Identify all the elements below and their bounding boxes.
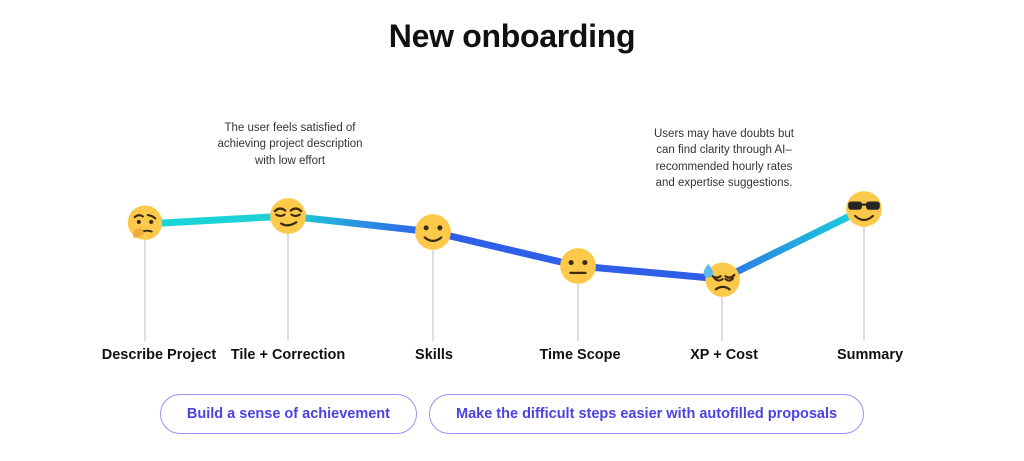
slightly-smiling-face-icon[interactable] bbox=[411, 210, 455, 254]
stage-label-summary: Summary bbox=[837, 347, 903, 363]
stage-label-skills: Skills bbox=[415, 347, 453, 363]
thinking-face-icon[interactable] bbox=[123, 202, 167, 246]
stage-label-tile-correction: Tile + Correction bbox=[231, 347, 346, 363]
smirking-face-icon[interactable] bbox=[266, 194, 310, 238]
insight-pill-achievement[interactable]: Build a sense of achievement bbox=[160, 394, 417, 434]
insight-pill-autofilled-proposals[interactable]: Make the difficult steps easier with aut… bbox=[429, 394, 864, 434]
journey-map-canvas: New onboarding bbox=[0, 0, 1024, 461]
downcast-face-with-sweat-icon[interactable] bbox=[700, 257, 744, 301]
annotation-xp-cost: Users may have doubts but can find clari… bbox=[648, 126, 800, 191]
stage-label-describe-project: Describe Project bbox=[102, 347, 216, 363]
insight-pill-row: Build a sense of achievement Make the di… bbox=[0, 394, 1024, 434]
stem-lines bbox=[145, 227, 864, 341]
stage-label-xp-cost: XP + Cost bbox=[690, 347, 758, 363]
stage-label-time-scope: Time Scope bbox=[539, 347, 620, 363]
smiling-face-with-sunglasses-icon[interactable] bbox=[842, 187, 886, 231]
neutral-face-icon[interactable] bbox=[556, 244, 600, 288]
sentiment-line bbox=[145, 209, 864, 279]
annotation-tile-correction: The user feels satisfied of achieving pr… bbox=[214, 120, 366, 169]
